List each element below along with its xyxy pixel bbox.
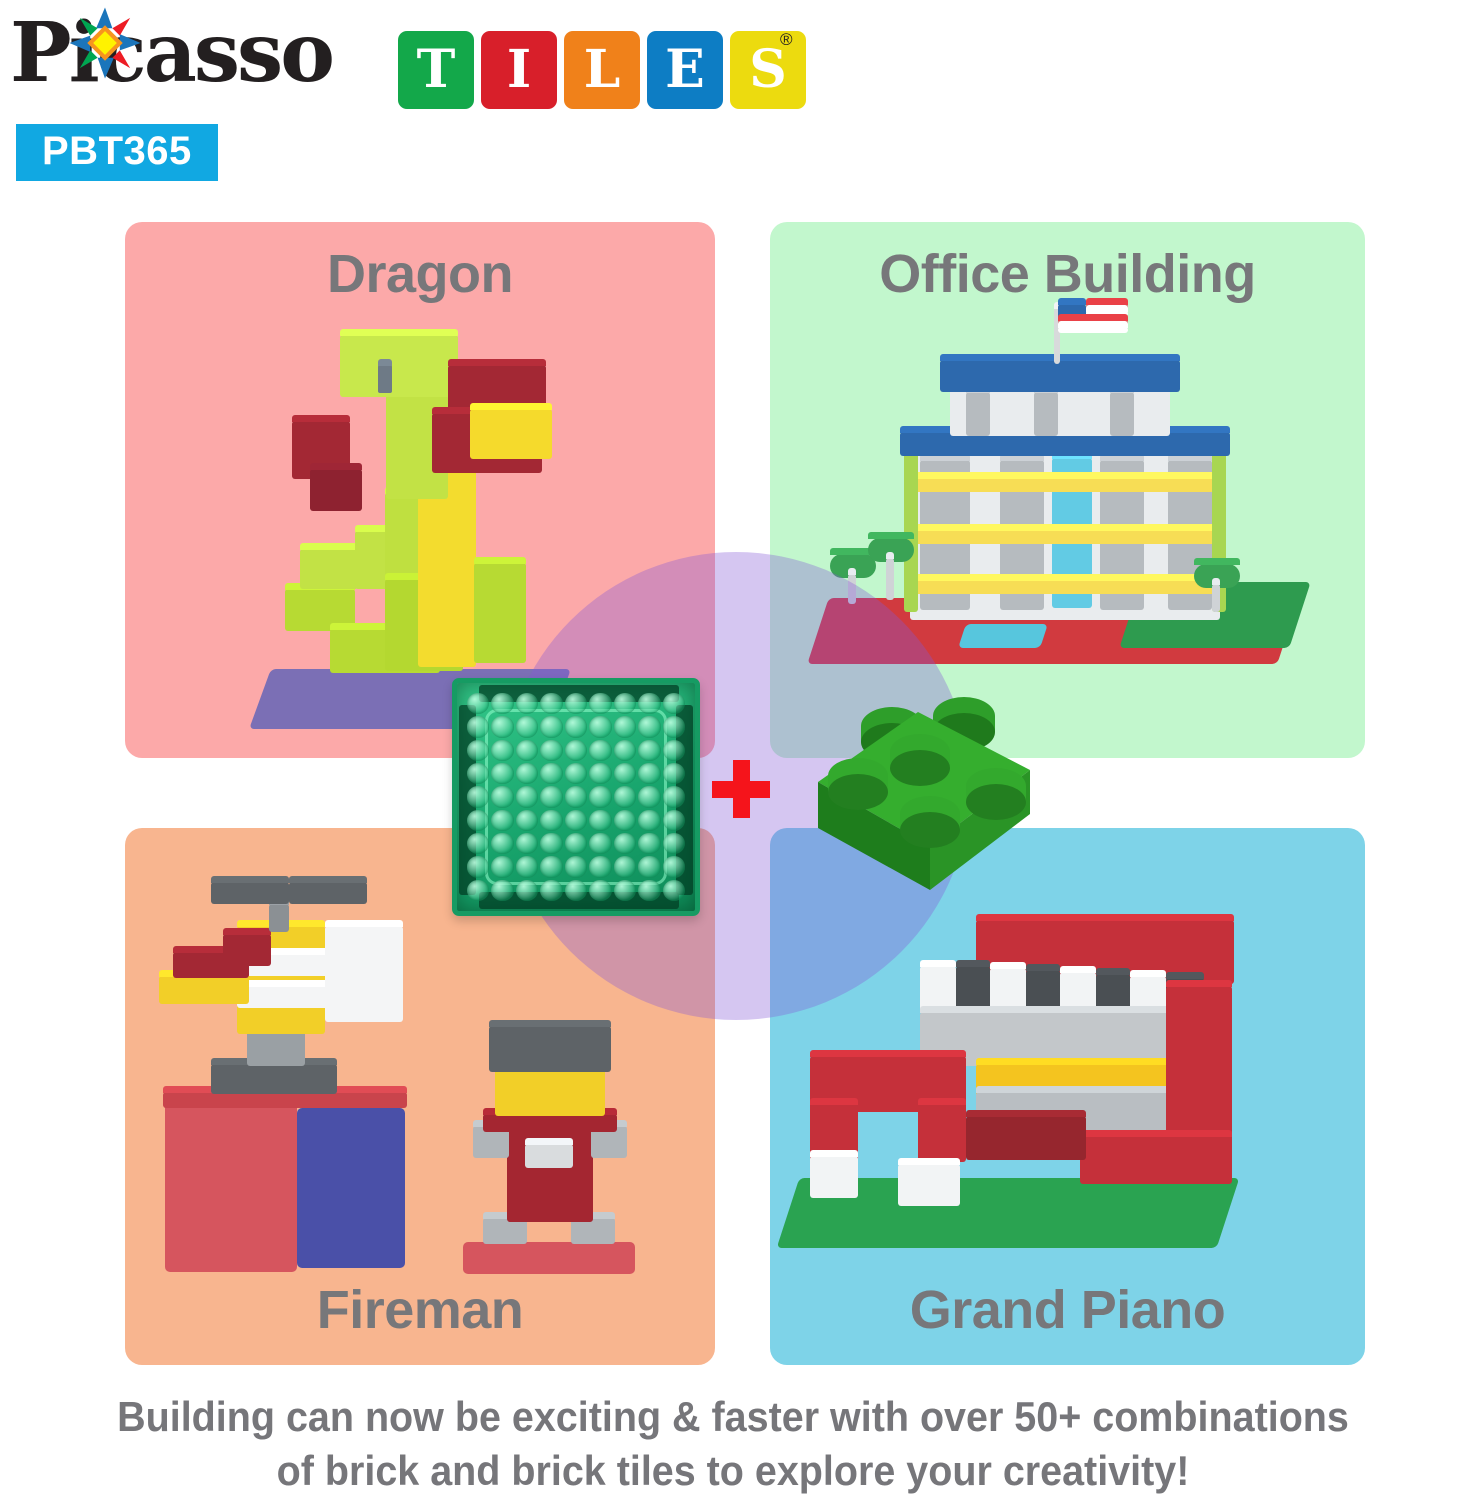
panel-grand-piano: Grand Piano [770,828,1365,1365]
baseplate-stud-grid [467,693,685,901]
green-magnetic-brick-tile-baseplate [452,678,700,916]
tile-letter: I [507,44,531,96]
plus-symbol [712,760,770,818]
logo-wordmark-row: Picasso T I L E S ® [8,6,808,116]
sku-badge: PBT365 [16,124,218,181]
panel-title-fireman: Fireman [125,1282,715,1339]
fireman-helicopter-brick-model [155,868,695,1268]
caption-line-1: Building can now be exciting & faster wi… [61,1390,1405,1444]
tile-letter: E [665,44,705,96]
pinwheel-star-icon [68,6,142,80]
panel-title-office-building: Office Building [770,246,1365,303]
blue-translucent-cube-face [297,1108,405,1268]
red-translucent-cube-face [165,1100,297,1272]
product-infographic: Picasso T I L E S ® PBT [0,0,1466,1500]
panel-title-grand-piano: Grand Piano [770,1282,1365,1339]
fireman-torso [507,1120,593,1222]
fireman-figure-baseplate [463,1242,635,1274]
panel-office-building: Office Building [770,222,1365,758]
brand-wordmark: Picasso [10,12,332,94]
caption-line-2: of brick and brick tiles to explore your… [61,1444,1405,1498]
tile-letter-block: S [730,31,806,109]
brand-logo: Picasso T I L E S ® PBT [8,6,808,186]
dragon-brick-model [180,317,650,737]
tile-letter-block: T [398,31,474,109]
tiles-letter-blocks: T I L E S [398,31,806,109]
grand-piano-brick-model [780,878,1340,1278]
tile-letter-block: E [647,31,723,109]
fireman-helmet [489,1026,611,1072]
tile-letter-block: I [481,31,557,109]
office-building-brick-model [800,302,1340,722]
green-2x3-building-brick [798,690,1038,900]
tile-letter-block: L [564,31,640,109]
tile-letter: L [584,44,621,96]
panel-title-dragon: Dragon [125,246,715,303]
caption-text: Building can now be exciting & faster wi… [44,1390,1422,1498]
tile-letter: T [417,44,456,96]
fireman-face [495,1068,605,1116]
tile-letter: S [749,44,787,96]
registered-trademark-icon: ® [780,30,793,50]
